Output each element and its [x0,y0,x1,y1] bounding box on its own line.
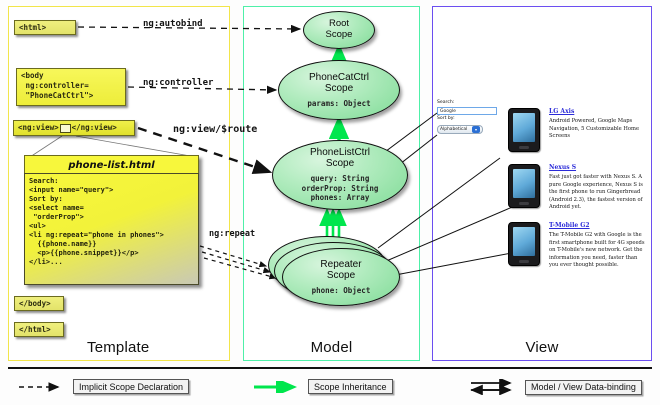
sort-select[interactable]: Alphabetical ▾ [437,125,483,134]
legend-item-scope-inheritance: Scope Inheritance [253,379,393,394]
scope-root: Root Scope [303,11,375,49]
sort-select-value: Alphabetical [440,127,467,132]
phone-thumbnail [508,108,540,152]
ngview-open-tag: <ng:view> [18,123,59,133]
view-search-form: Search: Google Sort by: Alphabetical ▾ [437,100,499,134]
scope-phonelistctrl-name: PhoneListCtrl Scope [310,147,370,170]
phone-list-item[interactable]: Nexus S Fast just got faster with Nexus … [508,164,645,212]
html-tag-box: <html> [14,20,76,35]
phone-list-callout: phone-list.html Search: <input name="que… [24,155,199,285]
label-ng-view-route: ng:view/$route [173,124,257,135]
green-arrow-icon [253,381,301,393]
phone-name-link[interactable]: Nexus S [549,164,645,171]
double-arrow-icon [470,379,518,395]
panel-model-label: Model [244,339,419,356]
diagram-canvas: Template Model View [0,0,660,405]
scope-repeater: Repeater Scope phone: Object [282,248,400,306]
callout-title: phone-list.html [24,155,199,175]
label-ng-controller: ng:controller [143,78,213,88]
legend-item-data-binding: Model / View Data-binding [470,379,642,395]
body-tag-box: <body ng:controller= "PhoneCatCtrl"> [16,68,126,106]
phone-description: Android Powered, Google Maps Navigation,… [549,118,645,141]
phone-name-link[interactable]: LG Axis [549,108,645,115]
legend-label: Model / View Data-binding [525,380,642,395]
label-ng-repeat: ng:repeat [209,229,255,239]
scope-phonecatctrl-name: PhoneCatCtrl Scope [309,72,369,95]
scope-phonecatctrl-props: params: Object [307,99,370,109]
html-close-tag-box: </html> [14,322,64,337]
chevron-down-icon: ▾ [472,126,480,133]
legend-item-implicit-scope: Implicit Scope Declaration [18,379,189,394]
phone-description: Fast just got faster with Nexus S. A pur… [549,174,645,212]
scope-phonecatctrl: PhoneCatCtrl Scope params: Object [278,60,400,120]
scope-root-name: Root Scope [326,19,353,41]
phone-name-link[interactable]: T-Mobile G2 [549,222,645,229]
scope-repeater-name: Repeater Scope [320,259,361,282]
scope-phonelistctrl: PhoneListCtrl Scope query: String orderP… [272,140,408,210]
label-ng-autobind: ng:autobind [143,19,203,29]
phone-list-item[interactable]: T-Mobile G2 The T-Mobile G2 with Google … [508,222,645,270]
legend-label: Implicit Scope Declaration [73,379,189,394]
ngview-close-tag: </ng:view> [72,123,117,133]
phone-thumbnail [508,164,540,208]
dashed-arrow-icon [18,381,66,393]
phone-description: The T-Mobile G2 with Google is the first… [549,232,645,270]
body-close-tag-box: </body> [14,296,64,311]
legend-label: Scope Inheritance [308,379,393,394]
sort-label: Sort by: [437,116,499,123]
phone-list-item[interactable]: LG Axis Android Powered, Google Maps Nav… [508,108,645,152]
ngview-slot-icon [60,124,71,133]
panel-view-label: View [433,339,651,356]
scope-repeater-props: phone: Object [312,286,371,296]
legend-separator [8,367,652,369]
search-label: Search: [437,100,499,107]
phone-thumbnail [508,222,540,266]
scope-phonelistctrl-props: query: String orderProp: String phones: … [302,174,379,203]
search-input[interactable]: Google [437,107,497,115]
ngview-tag-box: <ng:view> </ng:view> [13,120,135,136]
callout-code: Search: <input name="query"> Sort by: <s… [24,173,199,285]
